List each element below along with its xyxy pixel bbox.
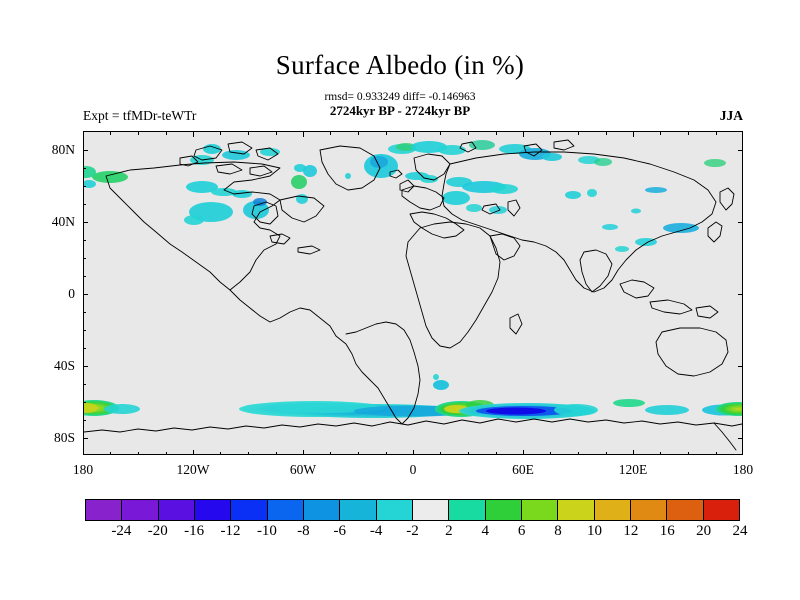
xtick-minor <box>606 452 607 455</box>
xtick-minor <box>468 452 469 455</box>
ylabel-80s: 80S <box>15 430 75 446</box>
colorbar-cell <box>413 500 449 520</box>
xtick-major <box>523 450 524 455</box>
experiment-label: Expt = tfMDr-teWTr <box>83 108 196 124</box>
xtick-top <box>248 132 249 135</box>
xtick-minor <box>716 452 717 455</box>
xlabel-60e: 60E <box>512 462 534 478</box>
xtick-minor <box>660 452 661 455</box>
xtick-minor <box>550 452 551 455</box>
ytick-40s <box>83 366 88 367</box>
colorbar-cell <box>595 500 631 520</box>
xtick-minor <box>248 452 249 455</box>
ytick-right <box>738 366 743 367</box>
colorbar-cell <box>122 500 158 520</box>
xtick-minor <box>386 452 387 455</box>
ytick-40n <box>83 222 88 223</box>
colorbar-cell <box>558 500 594 520</box>
xtick-top <box>468 132 469 135</box>
map-plot-area <box>83 131 743 455</box>
ytick-minor <box>83 186 86 187</box>
ytick-minor <box>83 204 86 205</box>
xtick-major <box>413 450 414 455</box>
colorbar-cell <box>304 500 340 520</box>
colorbar-cell <box>522 500 558 520</box>
ytick-minor <box>83 384 86 385</box>
colorbar-cell <box>704 500 739 520</box>
xtick-major <box>303 450 304 455</box>
xtick-top <box>193 132 194 137</box>
xtick-top <box>166 132 167 135</box>
colorbar-cell <box>377 500 413 520</box>
xtick-top <box>358 132 359 135</box>
ytick-80s <box>83 438 88 439</box>
colorbar-tick-label: 8 <box>554 523 562 540</box>
colorbar-cell <box>195 500 231 520</box>
xtick-top <box>606 132 607 135</box>
xtick-top <box>220 132 221 135</box>
xlabel-180e: 180 <box>733 462 753 478</box>
colorbar-tick-label: 2 <box>445 523 453 540</box>
ytick-right <box>738 150 743 151</box>
colorbar-cell <box>340 500 376 520</box>
colorbar-cell <box>86 500 122 520</box>
colorbar-tick-label: 12 <box>623 523 638 540</box>
colorbar-tick-label: -16 <box>184 523 204 540</box>
page-title: Surface Albedo (in %) <box>0 50 800 81</box>
colorbar-tick-label: -2 <box>406 523 419 540</box>
ylabel-80n: 80N <box>15 142 75 158</box>
xtick-minor <box>440 452 441 455</box>
ytick-80n <box>83 150 88 151</box>
colorbar: -24-20-16-12-10-8-6-4-224681012162024 <box>85 499 740 521</box>
colorbar-cell <box>159 500 195 520</box>
xtick-top <box>303 132 304 137</box>
xtick-minor <box>496 452 497 455</box>
colorbar-swatches <box>85 499 740 521</box>
xlabel-120e: 120E <box>619 462 648 478</box>
colorbar-tick-label: -24 <box>111 523 131 540</box>
xtick-top <box>633 132 634 137</box>
ytick-minor <box>83 168 86 169</box>
colorbar-tick-label: 24 <box>733 523 748 540</box>
xtick-minor <box>688 452 689 455</box>
xtick-minor <box>220 452 221 455</box>
colorbar-tick-label: 10 <box>587 523 602 540</box>
ytick-minor <box>83 348 86 349</box>
colorbar-tick-label: -10 <box>257 523 277 540</box>
xtick-minor <box>166 452 167 455</box>
colorbar-cell <box>631 500 667 520</box>
xtick-minor <box>330 452 331 455</box>
ylabel-0: 0 <box>15 286 75 302</box>
xtick-major <box>633 450 634 455</box>
xtick-minor <box>578 452 579 455</box>
xtick-minor <box>110 452 111 455</box>
xtick-major <box>193 450 194 455</box>
colorbar-tick-label: -4 <box>370 523 383 540</box>
colorbar-tick-label: -8 <box>297 523 310 540</box>
ytick-minor <box>83 240 86 241</box>
surface-albedo-figure: Surface Albedo (in %) rmsd= 0.933249 dif… <box>0 0 800 600</box>
colorbar-tick-label: 20 <box>696 523 711 540</box>
statistics-subtitle: rmsd= 0.933249 diff= -0.146963 <box>0 91 800 103</box>
ytick-minor <box>83 420 86 421</box>
ytick-minor <box>83 330 86 331</box>
colorbar-tick-label: 4 <box>482 523 490 540</box>
colorbar-cell <box>449 500 485 520</box>
ytick-minor <box>83 258 86 259</box>
xlabel-180w: 180 <box>73 462 93 478</box>
colorbar-cell <box>667 500 703 520</box>
ytick-minor <box>83 402 86 403</box>
xtick-top <box>110 132 111 135</box>
xtick-top <box>578 132 579 135</box>
colorbar-tick-label: -6 <box>333 523 346 540</box>
ytick-minor <box>83 276 86 277</box>
colorbar-tick-label: -20 <box>148 523 168 540</box>
xtick-top <box>550 132 551 135</box>
season-label: JJA <box>720 108 743 124</box>
ytick-right <box>738 222 743 223</box>
ytick-0 <box>83 294 88 295</box>
xtick-major <box>83 450 84 455</box>
xtick-minor <box>358 452 359 455</box>
xtick-top <box>523 132 524 137</box>
xtick-top <box>413 132 414 137</box>
xlabel-60w: 60W <box>290 462 316 478</box>
xtick-top <box>660 132 661 135</box>
ytick-right <box>738 438 743 439</box>
ytick-minor <box>83 312 86 313</box>
xtick-major <box>742 450 743 455</box>
xlabel-0: 0 <box>410 462 417 478</box>
ylabel-40n: 40N <box>15 214 75 230</box>
colorbar-tick-label: -12 <box>221 523 241 540</box>
colorbar-cell <box>486 500 522 520</box>
xtick-top <box>276 132 277 135</box>
xtick-top <box>386 132 387 135</box>
xtick-top <box>440 132 441 135</box>
ytick-right <box>738 294 743 295</box>
xtick-top <box>716 132 717 135</box>
world-map <box>84 132 742 454</box>
ylabel-40s: 40S <box>15 358 75 374</box>
xtick-minor <box>138 452 139 455</box>
colorbar-cell <box>231 500 267 520</box>
xtick-top <box>688 132 689 135</box>
colorbar-cell <box>268 500 304 520</box>
xtick-top <box>330 132 331 135</box>
xtick-top <box>496 132 497 135</box>
colorbar-tick-label: 6 <box>518 523 526 540</box>
xtick-top <box>138 132 139 135</box>
colorbar-tick-label: 16 <box>660 523 675 540</box>
xlabel-120w: 120W <box>177 462 210 478</box>
xtick-minor <box>276 452 277 455</box>
